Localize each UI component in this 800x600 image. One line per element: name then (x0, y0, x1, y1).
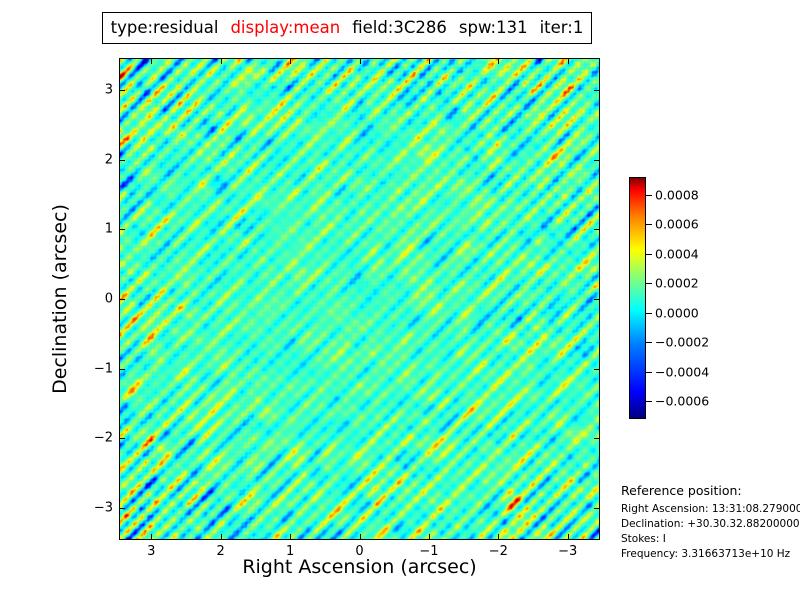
colorbar-tick-2 (646, 254, 652, 255)
reference-position-line-0: Right Ascension: 13:31:08.27900000 (621, 502, 800, 517)
colorbar-label-3: 0.0002 (655, 276, 699, 291)
y-tick-right-6 (594, 508, 599, 509)
colorbar-label-7: −0.0006 (655, 394, 709, 409)
y-tick-label-3: 0 (85, 292, 113, 307)
y-tick-right-3 (594, 299, 599, 300)
y-tick-right-1 (594, 160, 599, 161)
x-tick-top-6 (568, 59, 569, 64)
x-tick-label-1: 2 (217, 544, 225, 559)
x-tick-top-5 (498, 59, 499, 64)
colorbar-tick-3 (646, 283, 652, 284)
y-tick-right-4 (594, 369, 599, 370)
y-tick-4 (120, 369, 125, 370)
plot-title-bar: type:residualdisplay:meanfield:3C286spw:… (102, 12, 592, 44)
residual-image-plot[interactable] (119, 58, 600, 540)
colorbar-tick-7 (646, 401, 652, 402)
x-tick-label-2: 1 (286, 544, 294, 559)
x-tick-top-3 (360, 59, 361, 64)
residual-image-canvas (120, 59, 599, 539)
y-tick-label-1: 2 (85, 152, 113, 167)
colorbar-tick-1 (646, 224, 652, 225)
title-token-1: display:mean (230, 20, 340, 37)
colorbar-tick-5 (646, 342, 652, 343)
colorbar-label-5: −0.0002 (655, 335, 709, 350)
colorbar-label-4: 0.0000 (655, 305, 699, 320)
y-tick-6 (120, 508, 125, 509)
title-token-3: spw:131 (459, 20, 528, 37)
x-tick-2 (290, 534, 291, 539)
x-tick-top-4 (429, 59, 430, 64)
colorbar-label-1: 0.0006 (655, 217, 699, 232)
reference-position-list: Right Ascension: 13:31:08.27900000Declin… (621, 502, 800, 562)
y-tick-label-4: −1 (85, 361, 113, 376)
x-tick-label-6: −3 (558, 544, 577, 559)
title-token-4: iter:1 (540, 20, 584, 37)
x-tick-top-0 (151, 59, 152, 64)
colorbar-label-0: 0.0008 (655, 187, 699, 202)
colorbar-tick-4 (646, 313, 652, 314)
y-tick-right-2 (594, 229, 599, 230)
reference-position-line-1: Declination: +30.30.32.88200000 (621, 517, 800, 532)
x-tick-top-1 (221, 59, 222, 64)
x-tick-1 (221, 534, 222, 539)
title-token-0: type:residual (111, 20, 219, 37)
x-tick-label-3: 0 (355, 544, 363, 559)
x-tick-label-5: −2 (489, 544, 508, 559)
title-token-2: field:3C286 (352, 20, 447, 37)
y-tick-2 (120, 229, 125, 230)
x-tick-4 (429, 534, 430, 539)
y-tick-3 (120, 299, 125, 300)
y-tick-label-2: 1 (85, 222, 113, 237)
x-tick-label-0: 3 (147, 544, 155, 559)
reference-position-line-3: Frequency: 3.31663713e+10 Hz (621, 547, 800, 562)
x-tick-6 (568, 534, 569, 539)
colorbar-tick-0 (646, 195, 652, 196)
y-tick-label-6: −3 (85, 500, 113, 515)
colorbar-tick-6 (646, 372, 652, 373)
colorbar[interactable]: 0.00080.00060.00040.00020.0000−0.0002−0.… (629, 177, 646, 419)
reference-position-line-2: Stokes: I (621, 532, 800, 547)
colorbar-label-2: 0.0004 (655, 246, 699, 261)
y-tick-1 (120, 160, 125, 161)
reference-position-panel: Reference position: Right Ascension: 13:… (621, 483, 800, 562)
y-tick-right-0 (594, 90, 599, 91)
colorbar-label-6: −0.0004 (655, 364, 709, 379)
x-tick-3 (360, 534, 361, 539)
y-axis-label: Declination (arcsec) (49, 89, 71, 509)
x-tick-top-2 (290, 59, 291, 64)
y-tick-5 (120, 438, 125, 439)
y-tick-label-0: 3 (85, 83, 113, 98)
reference-position-heading: Reference position: (621, 483, 800, 498)
x-axis-label: Right Ascension (arcsec) (119, 556, 600, 578)
y-tick-label-5: −2 (85, 431, 113, 446)
x-tick-5 (498, 534, 499, 539)
x-tick-0 (151, 534, 152, 539)
x-tick-label-4: −1 (419, 544, 438, 559)
y-tick-0 (120, 90, 125, 91)
y-tick-right-5 (594, 438, 599, 439)
colorbar-gradient (629, 177, 646, 419)
